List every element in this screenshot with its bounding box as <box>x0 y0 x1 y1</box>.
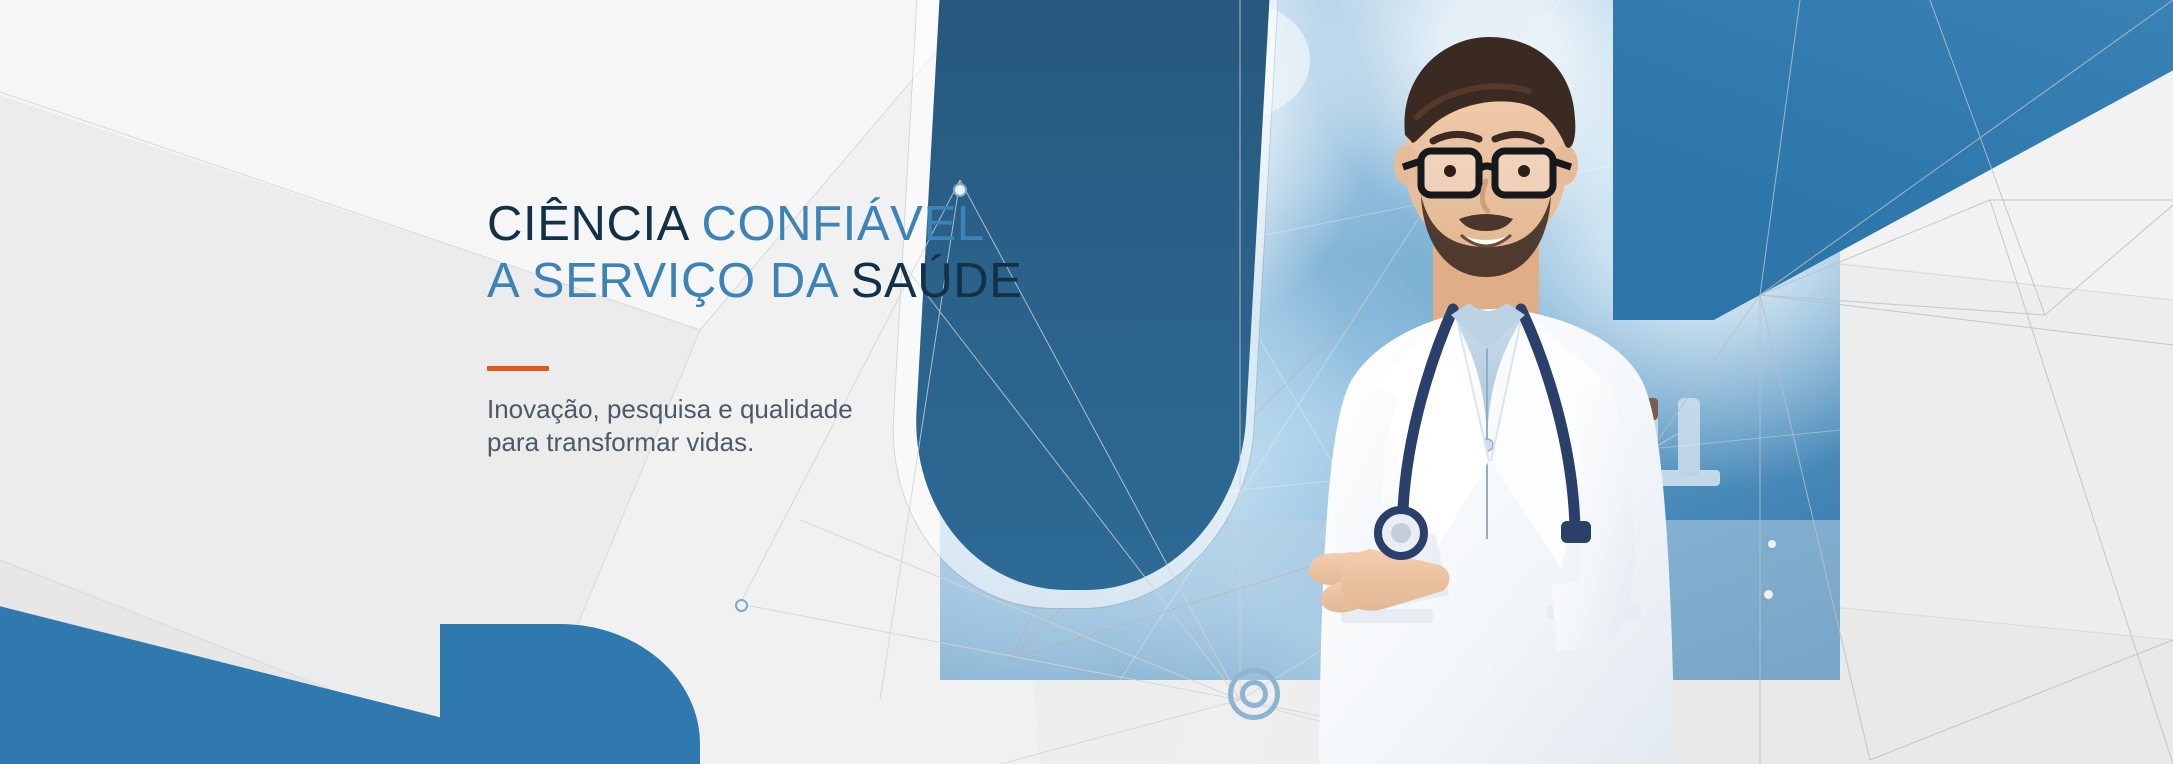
subtitle-line-2: para transformar vidas. <box>487 427 754 457</box>
headline-line2-strong: SAÚDE <box>851 254 1023 308</box>
subtitle: Inovação, pesquisa e qualidade para tran… <box>487 393 1007 460</box>
page-title: CIÊNCIA CONFIÁVEL A SERVIÇO DA SAÚDE <box>487 196 1007 310</box>
subtitle-line-1: Inovação, pesquisa e qualidade <box>487 394 853 424</box>
network-node-marker <box>1762 588 1775 601</box>
headline-line1-strong: CIÊNCIA <box>487 197 687 251</box>
network-node-marker <box>735 599 748 612</box>
network-node-marker <box>1766 538 1778 550</box>
doctor-figure <box>1255 9 1725 764</box>
hero-banner: CIÊNCIA CONFIÁVEL A SERVIÇO DA SAÚDE Ino… <box>0 0 2173 764</box>
network-node-marker <box>953 183 967 197</box>
headline-line2-accent: A SERVIÇO DA <box>487 254 836 308</box>
hero-copy: CIÊNCIA CONFIÁVEL A SERVIÇO DA SAÚDE Ino… <box>487 196 1007 459</box>
headline-line1-accent: CONFIÁVEL <box>701 197 984 251</box>
accent-rule <box>487 366 549 371</box>
